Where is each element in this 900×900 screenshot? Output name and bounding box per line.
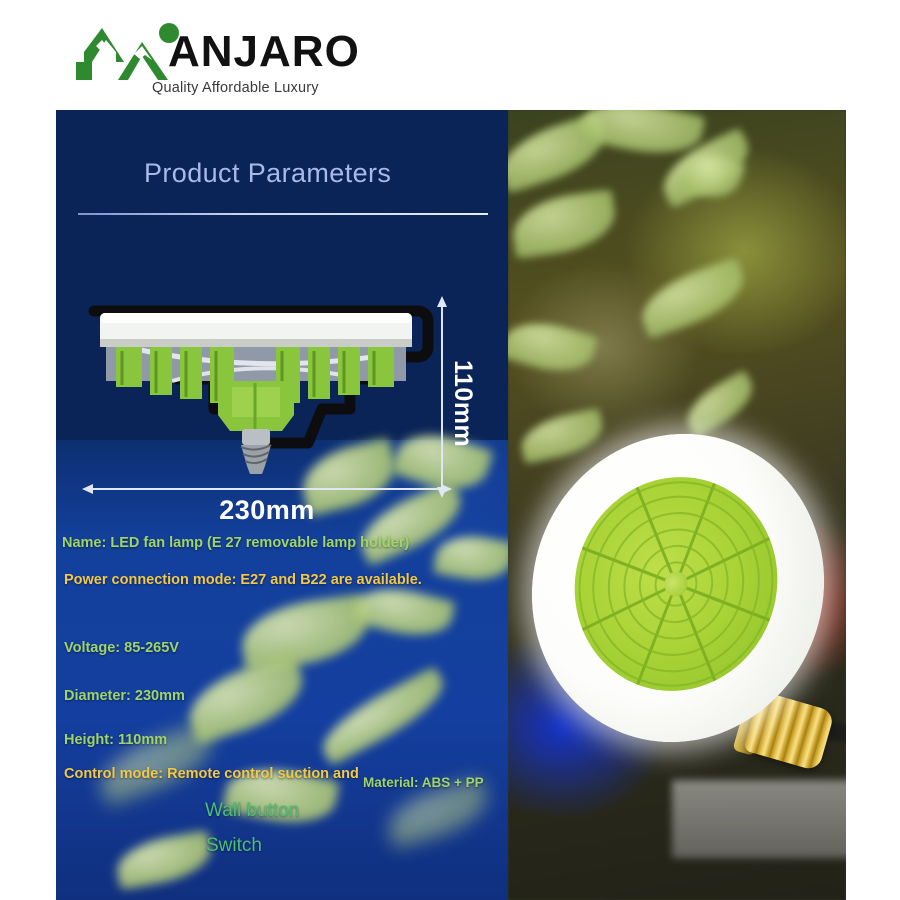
arrow-up-icon [437, 296, 447, 307]
spec-name: Name: LED fan lamp (E 27 removable lamp … [62, 535, 409, 551]
leaf-decoration [433, 530, 508, 587]
width-dimension-label: 230mm [92, 495, 442, 526]
brand-wordmark: ANJARO [168, 30, 360, 74]
content-panels: Product Parameters [56, 110, 846, 900]
spec-power-connection: Power connection mode: E27 and B22 are a… [64, 572, 422, 588]
product-image [522, 428, 846, 858]
leaf-decoration [237, 593, 372, 672]
led-fan-lamp-side-view-icon [76, 295, 436, 485]
brand-tagline: Quality Affordable Luxury [152, 80, 319, 96]
height-dimension-line [441, 306, 443, 488]
spec-wall-button: Wall button [205, 800, 299, 822]
spec-diameter: Diameter: 230mm [64, 688, 185, 704]
spec-panel: Product Parameters [56, 110, 508, 900]
leaf-decoration [352, 579, 456, 645]
surface-shadow [672, 780, 846, 858]
arrow-left-icon [82, 484, 93, 494]
leaf-decoration [313, 666, 454, 766]
page-title: Product Parameters [144, 158, 391, 189]
spec-material: Material: ABS + PP [363, 775, 484, 790]
spec-voltage: Voltage: 85-265V [64, 640, 179, 656]
spec-height: Height: 110mm [64, 732, 167, 748]
leaf-decoration [113, 830, 215, 890]
brand-header: ANJARO Quality Affordable Luxury [0, 0, 900, 110]
spec-control-mode: Control mode: Remote control suction and [64, 766, 359, 782]
arrow-down-icon [437, 487, 447, 498]
spec-switch: Switch [206, 835, 262, 857]
width-dimension-line [92, 488, 442, 490]
title-divider [78, 213, 488, 215]
height-dimension-label: 110mm [448, 360, 477, 447]
product-photo-panel [508, 110, 846, 900]
